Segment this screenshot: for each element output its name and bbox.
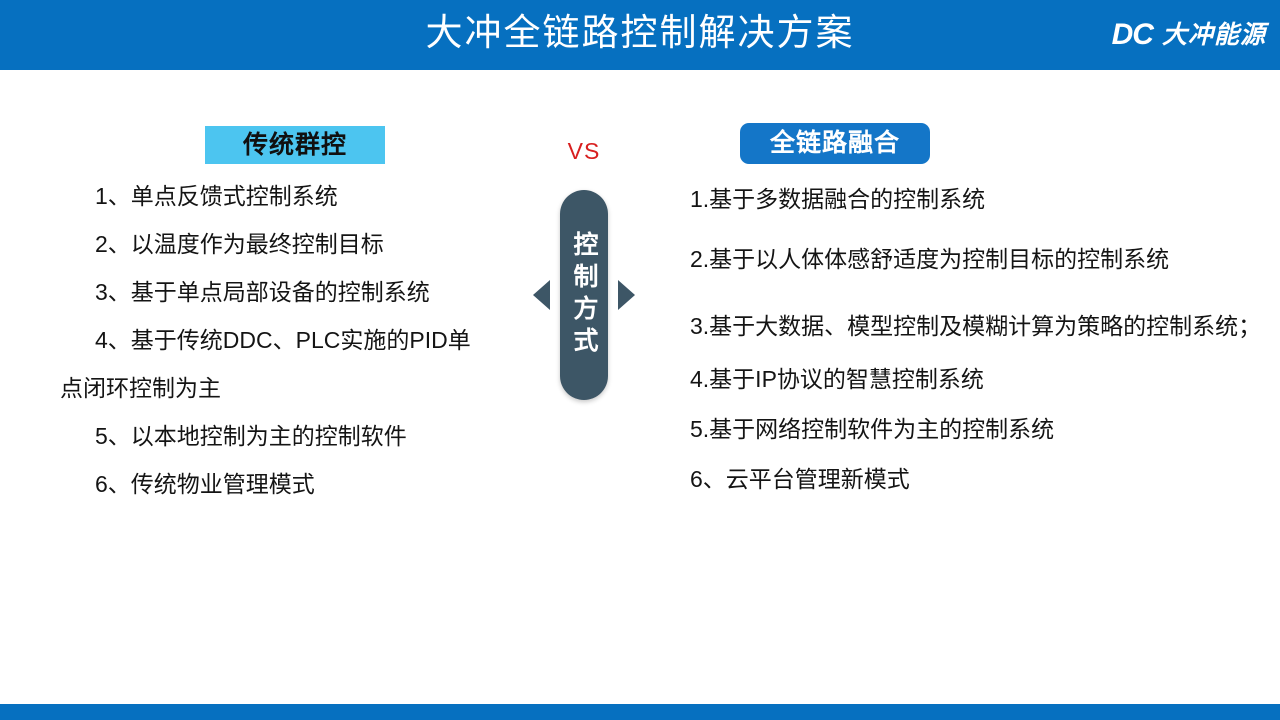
list-item: 5、以本地控制为主的控制软件 [95, 412, 540, 460]
vs-label: VS [560, 138, 608, 165]
left-column-badge: 传统群控 [205, 126, 385, 164]
right-column-bullet-list: 1.基于多数据融合的控制系统 2.基于以人体体感舒适度为控制目标的控制系统 3.… [680, 184, 1270, 514]
list-item: 3.基于大数据、模型控制及模糊计算为策略的控制系统； [690, 304, 1270, 348]
list-item: 2、以温度作为最终控制目标 [95, 220, 540, 268]
brand-mark-text: DC [1112, 18, 1153, 52]
control-mode-pill: 控制方式 [560, 190, 608, 400]
list-item: 6、传统物业管理模式 [95, 460, 540, 508]
list-item: 1.基于多数据融合的控制系统 [690, 184, 1270, 214]
list-item: 2.基于以人体体感舒适度为控制目标的控制系统 [690, 244, 1270, 274]
brand-name-text: 大冲能源 [1162, 18, 1266, 52]
list-item: 5.基于网络控制软件为主的控制系统 [690, 414, 1270, 444]
footer-bar [0, 704, 1280, 720]
list-item: 6、云平台管理新模式 [690, 464, 1270, 494]
list-item-continuation: 点闭环控制为主 [60, 364, 540, 412]
brand-logo: DC 大冲能源 [1112, 15, 1266, 55]
list-item: 4、基于传统DDC、PLC实施的PID单 [95, 316, 540, 364]
left-column-bullet-list: 1、单点反馈式控制系统 2、以温度作为最终控制目标 3、基于单点局部设备的控制系… [60, 172, 540, 508]
triangle-left-icon [533, 280, 550, 310]
list-item: 3、基于单点局部设备的控制系统 [95, 268, 540, 316]
slide-root: 大冲全链路控制解决方案 DC 大冲能源 传统群控 1、单点反馈式控制系统 2、以… [0, 0, 1280, 720]
list-item: 1、单点反馈式控制系统 [95, 172, 540, 220]
control-mode-label: 控制方式 [560, 231, 608, 359]
right-column-badge: 全链路融合 [740, 123, 930, 164]
triangle-right-icon [618, 280, 635, 310]
page-title: 大冲全链路控制解决方案 [0, 8, 1280, 58]
list-item: 4.基于IP协议的智慧控制系统 [690, 364, 1270, 394]
